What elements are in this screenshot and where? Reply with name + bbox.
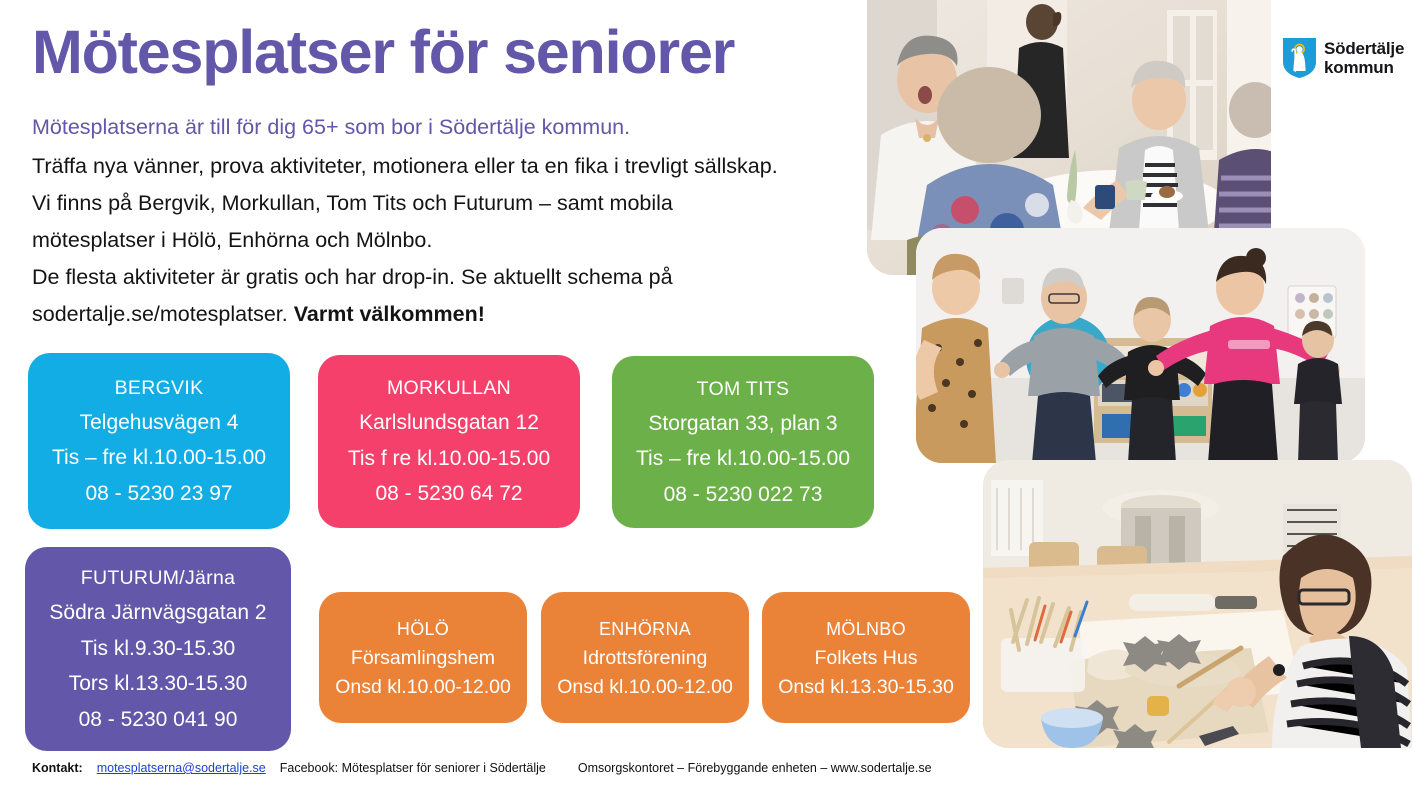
card-address: Storgatan 33, plan 3 bbox=[648, 406, 837, 442]
body-line-2: Vi finns på Bergvik, Morkullan, Tom Tits… bbox=[32, 185, 867, 222]
card-hours: Tis – fre kl.10.00-15.00 bbox=[52, 440, 266, 476]
card-title: FUTURUM/Järna bbox=[81, 561, 236, 595]
card-title: TOM TITS bbox=[697, 372, 790, 406]
card-hours: Tis f re kl.10.00-15.00 bbox=[348, 441, 550, 477]
card-phone[interactable]: 08 - 5230 022 73 bbox=[664, 477, 823, 513]
body-line-3: mötesplatser i Hölö, Enhörna och Mölnbo. bbox=[32, 222, 867, 259]
website-text: sodertalje.se/motesplatser. bbox=[32, 302, 294, 326]
logo-line-1: Södertälje bbox=[1324, 39, 1404, 58]
card-hours: Onsd kl.10.00-12.00 bbox=[557, 673, 733, 702]
location-card-tom-tits[interactable]: TOM TITS Storgatan 33, plan 3 Tis – fre … bbox=[612, 356, 874, 528]
card-phone[interactable]: 08 - 5230 23 97 bbox=[85, 476, 232, 512]
location-card-bergvik[interactable]: BERGVIK Telgehusvägen 4 Tis – fre kl.10.… bbox=[28, 353, 290, 529]
footer: Kontakt: motesplatserna@sodertalje.se Fa… bbox=[32, 761, 946, 775]
card-address: Telgehusvägen 4 bbox=[80, 405, 239, 441]
footer-facebook: Facebook: Mötesplatser för seniorer i Sö… bbox=[280, 761, 546, 775]
card-address: Församlingshem bbox=[351, 644, 495, 673]
photo-exercise bbox=[916, 228, 1365, 463]
welcome-text: Varmt välkommen! bbox=[294, 302, 485, 326]
page-title: Mötesplatser för seniorer bbox=[32, 20, 852, 86]
card-hours: Tis kl.9.30-15.30 bbox=[81, 631, 235, 667]
footer-department: Omsorgskontoret – Förebyggande enheten –… bbox=[578, 761, 932, 775]
card-address: Karlslundsgatan 12 bbox=[359, 405, 539, 441]
card-title: MORKULLAN bbox=[387, 371, 511, 405]
card-address: Folkets Hus bbox=[815, 644, 918, 673]
location-card-molnbo[interactable]: MÖLNBO Folkets Hus Onsd kl.13.30-15.30 bbox=[762, 592, 970, 723]
card-title: ENHÖRNA bbox=[599, 614, 691, 644]
card-hours: Onsd kl.13.30-15.30 bbox=[778, 673, 954, 702]
body-line-1: Träffa nya vänner, prova aktiviteter, mo… bbox=[32, 148, 867, 185]
logo-wordmark: Södertälje kommun bbox=[1324, 39, 1404, 77]
sodertalje-kommun-logo: Södertälje kommun bbox=[1283, 38, 1404, 78]
card-title: BERGVIK bbox=[115, 371, 204, 405]
sodertalje-coat-of-arms-icon bbox=[1283, 38, 1316, 78]
location-card-futurum[interactable]: FUTURUM/Järna Södra Järnvägsgatan 2 Tis … bbox=[25, 547, 291, 751]
photo-ceramics bbox=[983, 460, 1412, 748]
card-hours-secondary: Tors kl.13.30-15.30 bbox=[69, 666, 248, 702]
card-phone[interactable]: 08 - 5230 64 72 bbox=[375, 476, 522, 512]
footer-email-link[interactable]: motesplatserna@sodertalje.se bbox=[97, 761, 266, 775]
body-line-4: De flesta aktiviteter är gratis och har … bbox=[32, 259, 867, 296]
logo-line-2: kommun bbox=[1324, 58, 1394, 77]
body-line-5: sodertalje.se/motesplatser. Varmt välkom… bbox=[32, 296, 867, 333]
poster-root: Mötesplatser för seniorer Mötesplatserna… bbox=[0, 0, 1412, 793]
lead-paragraph: Mötesplatserna är till för dig 65+ som b… bbox=[32, 113, 862, 142]
location-card-enhorna[interactable]: ENHÖRNA Idrottsförening Onsd kl.10.00-12… bbox=[541, 592, 749, 723]
card-phone[interactable]: 08 - 5230 041 90 bbox=[79, 702, 238, 738]
card-hours: Tis – fre kl.10.00-15.00 bbox=[636, 441, 850, 477]
location-card-morkullan[interactable]: MORKULLAN Karlslundsgatan 12 Tis f re kl… bbox=[318, 355, 580, 528]
card-address: Södra Järnvägsgatan 2 bbox=[49, 595, 266, 631]
card-hours: Onsd kl.10.00-12.00 bbox=[335, 673, 511, 702]
body-copy: Träffa nya vänner, prova aktiviteter, mo… bbox=[32, 148, 867, 333]
location-card-holo[interactable]: HÖLÖ Församlingshem Onsd kl.10.00-12.00 bbox=[319, 592, 527, 723]
card-title: MÖLNBO bbox=[826, 614, 906, 644]
footer-contact-label: Kontakt: bbox=[32, 761, 83, 775]
card-title: HÖLÖ bbox=[397, 614, 449, 644]
card-address: Idrottsförening bbox=[583, 644, 708, 673]
